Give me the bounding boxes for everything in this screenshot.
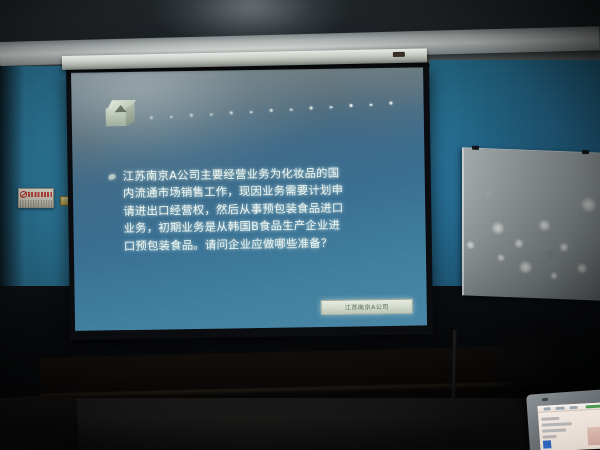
slide-dot — [230, 111, 233, 114]
laptop-webcam — [542, 398, 548, 401]
whiteboard-glare — [550, 272, 558, 280]
slide-text-line-5: 口预包装食品。请问企业应做哪些准备？ — [124, 233, 404, 255]
diamond-bullet-icon — [108, 174, 116, 180]
whiteboard-glare — [466, 240, 475, 249]
projected-slide: 江苏南京A公司主要经营业务为化妆品的国内流通市场销售工作，现因业务需要计划申请进… — [71, 67, 427, 330]
whiteboard — [462, 147, 600, 300]
slide-dot — [270, 109, 273, 112]
slide-footer-label: 江苏南京A公司 — [321, 299, 413, 315]
whiteboard-glare — [580, 197, 597, 213]
slide-dot — [210, 113, 213, 116]
slide-dot — [190, 114, 193, 117]
laptop-screen[interactable] — [537, 402, 600, 450]
whiteboard-glare — [491, 221, 505, 235]
slide-dot — [150, 116, 153, 119]
3d-box-arrow-icon — [115, 105, 127, 112]
no-smoking-icon — [20, 191, 27, 198]
whiteboard-clip — [582, 150, 589, 154]
3d-box-side-face — [126, 104, 135, 126]
whiteboard-glare — [559, 242, 569, 252]
ribbon-item-active[interactable] — [586, 404, 600, 408]
slide-dot — [330, 106, 333, 109]
whiteboard-clip — [472, 146, 479, 150]
roller-case-mark — [393, 52, 405, 57]
laptop-content-row — [543, 435, 557, 439]
wall-left-corner-shadow — [0, 66, 24, 296]
slide-bullet-block: 江苏南京A公司主要经营业务为化妆品的国内流通市场销售工作，现因业务需要计划申请进… — [109, 164, 404, 256]
foreground-shadow — [496, 326, 566, 390]
classroom-scene: 江苏南京A公司主要经营业务为化妆品的国内流通市场销售工作，现因业务需要计划申请进… — [0, 0, 600, 450]
projector-screen: 江苏南京A公司主要经营业务为化妆品的国内流通市场销售工作，现因业务需要计划申请进… — [66, 62, 433, 340]
whiteboard-glare — [514, 238, 524, 248]
no-smoking-sign-sublabel — [20, 200, 52, 207]
slide-dot — [170, 116, 173, 119]
slide-dot — [250, 111, 253, 114]
slide-dot — [290, 108, 293, 111]
no-smoking-sign — [18, 188, 54, 208]
whiteboard-glare — [576, 263, 588, 274]
ribbon-item[interactable] — [544, 407, 551, 410]
slide-dot — [349, 104, 352, 107]
laptop-content-row — [542, 422, 572, 427]
no-smoking-sign-top — [20, 190, 52, 199]
laptop-content-row — [542, 428, 566, 432]
laptop-content-row — [541, 417, 559, 421]
floor — [0, 398, 600, 450]
no-smoking-sign-label — [28, 192, 52, 197]
whiteboard-glare — [538, 219, 551, 231]
ribbon-item[interactable] — [570, 406, 578, 409]
laptop-taskbar-tile[interactable] — [543, 440, 552, 448]
chair — [0, 394, 80, 450]
slide-dot — [369, 103, 372, 106]
slide-body-text: 江苏南京A公司主要经营业务为化妆品的国内流通市场销售工作，现因业务需要计划申请进… — [123, 164, 404, 255]
slide-footer-text: 江苏南京A公司 — [345, 302, 389, 312]
slide-dot — [310, 106, 313, 109]
3d-box-icon — [106, 100, 136, 126]
slide-dot — [389, 102, 392, 105]
laptop-document-thumbnail — [587, 426, 600, 445]
ribbon-item[interactable] — [556, 407, 565, 410]
whiteboard-glare — [518, 260, 533, 274]
whiteboard-glare — [497, 254, 505, 262]
laptop[interactable] — [528, 392, 600, 450]
whiteboard-texture — [464, 148, 600, 300]
